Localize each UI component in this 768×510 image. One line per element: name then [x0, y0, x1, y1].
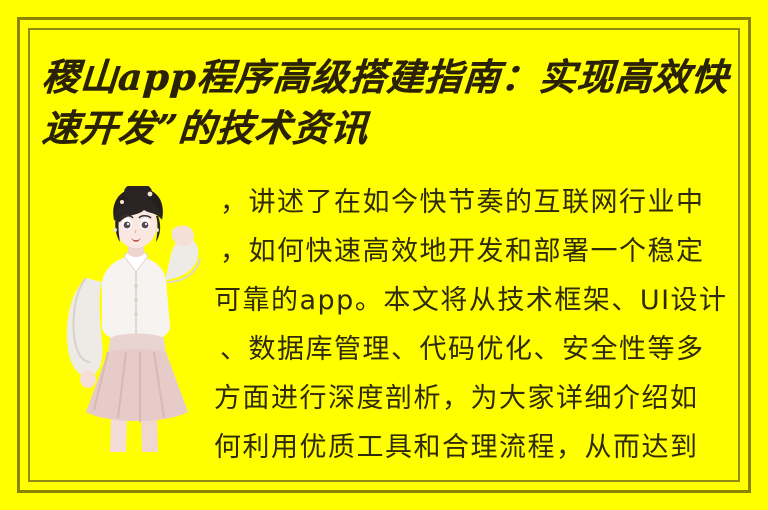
poster-canvas: 稷山app程序高级搭建指南：实现高效快 速开发”的技术资讯 — [0, 0, 768, 510]
body-line: ，如何快速高效地开发和部署一个稳定 — [214, 227, 742, 276]
title-line-2: 速开发”的技术资讯 — [40, 103, 744, 154]
character-illustration — [46, 186, 222, 452]
body-line: 何利用优质工具和合理流程，从而达到 — [214, 423, 742, 472]
body-line: 方面进行深度剖析，为大家详细介绍如 — [214, 374, 742, 423]
page-title: 稷山app程序高级搭建指南：实现高效快 速开发”的技术资讯 — [42, 52, 742, 154]
body-line: 、数据库管理、代码优化、安全性等多 — [214, 325, 742, 374]
body-line: 可靠的app。本文将从技术框架、UI设计 — [214, 276, 742, 325]
article-body: ，讲述了在如今快节奏的互联网行业中 ，如何快速高效地开发和部署一个稳定 可靠的a… — [214, 178, 742, 478]
body-line: ，讲述了在如今快节奏的互联网行业中 — [214, 178, 742, 227]
title-line-1: 稷山app程序高级搭建指南：实现高效快 — [40, 52, 744, 103]
